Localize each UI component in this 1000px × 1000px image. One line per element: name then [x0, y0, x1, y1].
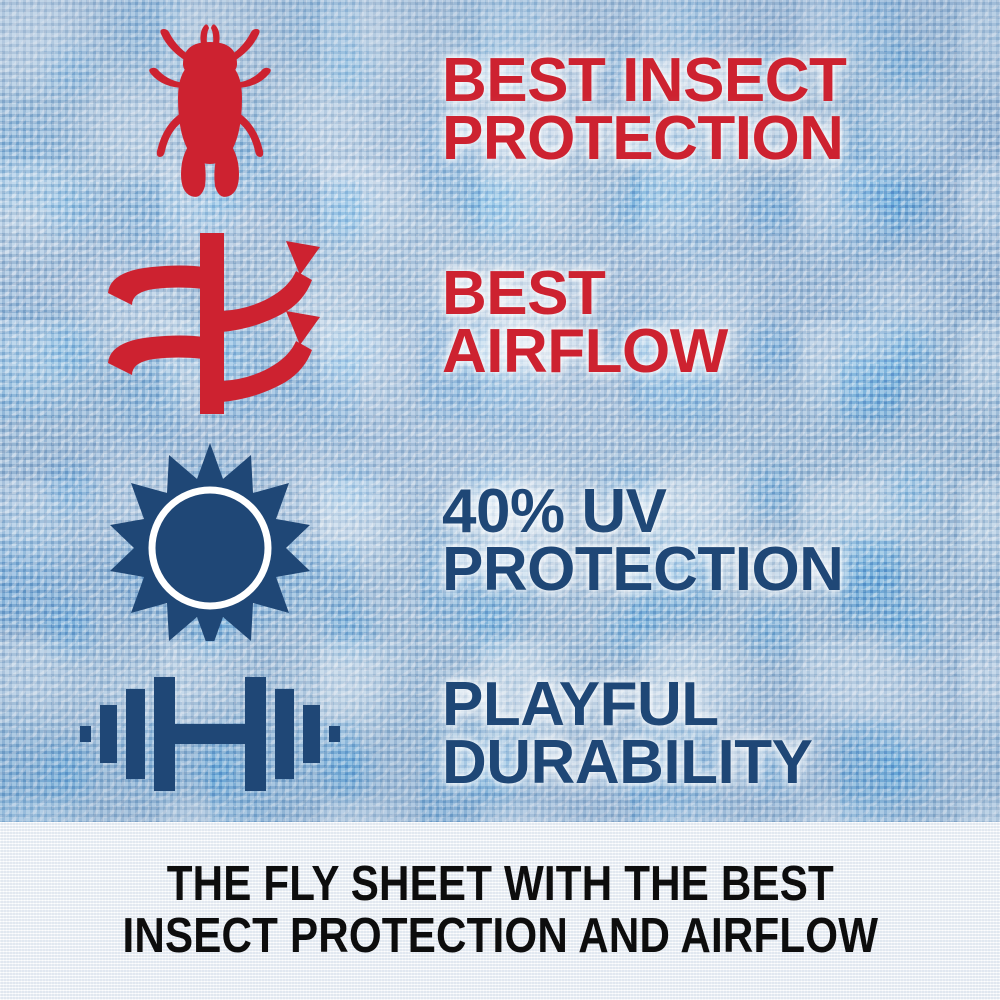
feature-row-insect-protection: BEST INSECT PROTECTION — [0, 10, 1000, 210]
feature-icon-cell — [0, 441, 420, 641]
fly-icon — [135, 18, 285, 203]
airflow-arrows-icon — [100, 231, 320, 416]
feature-icon-cell — [0, 18, 420, 203]
feature-infographic-poster: BEST INSECT PROTECTION — [0, 0, 1000, 1000]
feature-label-airflow: BEST AIRFLOW — [442, 265, 1000, 380]
feature-label-durability: PLAYFUL DURABILITY — [442, 676, 1000, 791]
feature-row-durability: PLAYFUL DURABILITY — [0, 646, 1000, 822]
feature-icon-cell — [0, 669, 420, 799]
feature-text-cell: 40% UV PROTECTION — [420, 483, 1000, 598]
caption-band: THE FLY SHEET WITH THE BEST INSECT PROTE… — [0, 822, 1000, 1000]
feature-text-cell: BEST INSECT PROTECTION — [420, 52, 1000, 167]
caption-text: THE FLY SHEET WITH THE BEST INSECT PROTE… — [122, 859, 878, 963]
feature-text-cell: BEST AIRFLOW — [420, 265, 1000, 380]
dumbbell-icon — [80, 669, 340, 799]
feature-row-airflow: BEST AIRFLOW — [0, 218, 1000, 428]
feature-list: BEST INSECT PROTECTION — [0, 0, 1000, 822]
sun-icon — [110, 441, 310, 641]
feature-text-cell: PLAYFUL DURABILITY — [420, 676, 1000, 791]
feature-icon-cell — [0, 231, 420, 416]
feature-label-insect-protection: BEST INSECT PROTECTION — [442, 52, 1000, 167]
feature-label-uv-protection: 40% UV PROTECTION — [442, 483, 1000, 598]
feature-row-uv-protection: 40% UV PROTECTION — [0, 436, 1000, 646]
